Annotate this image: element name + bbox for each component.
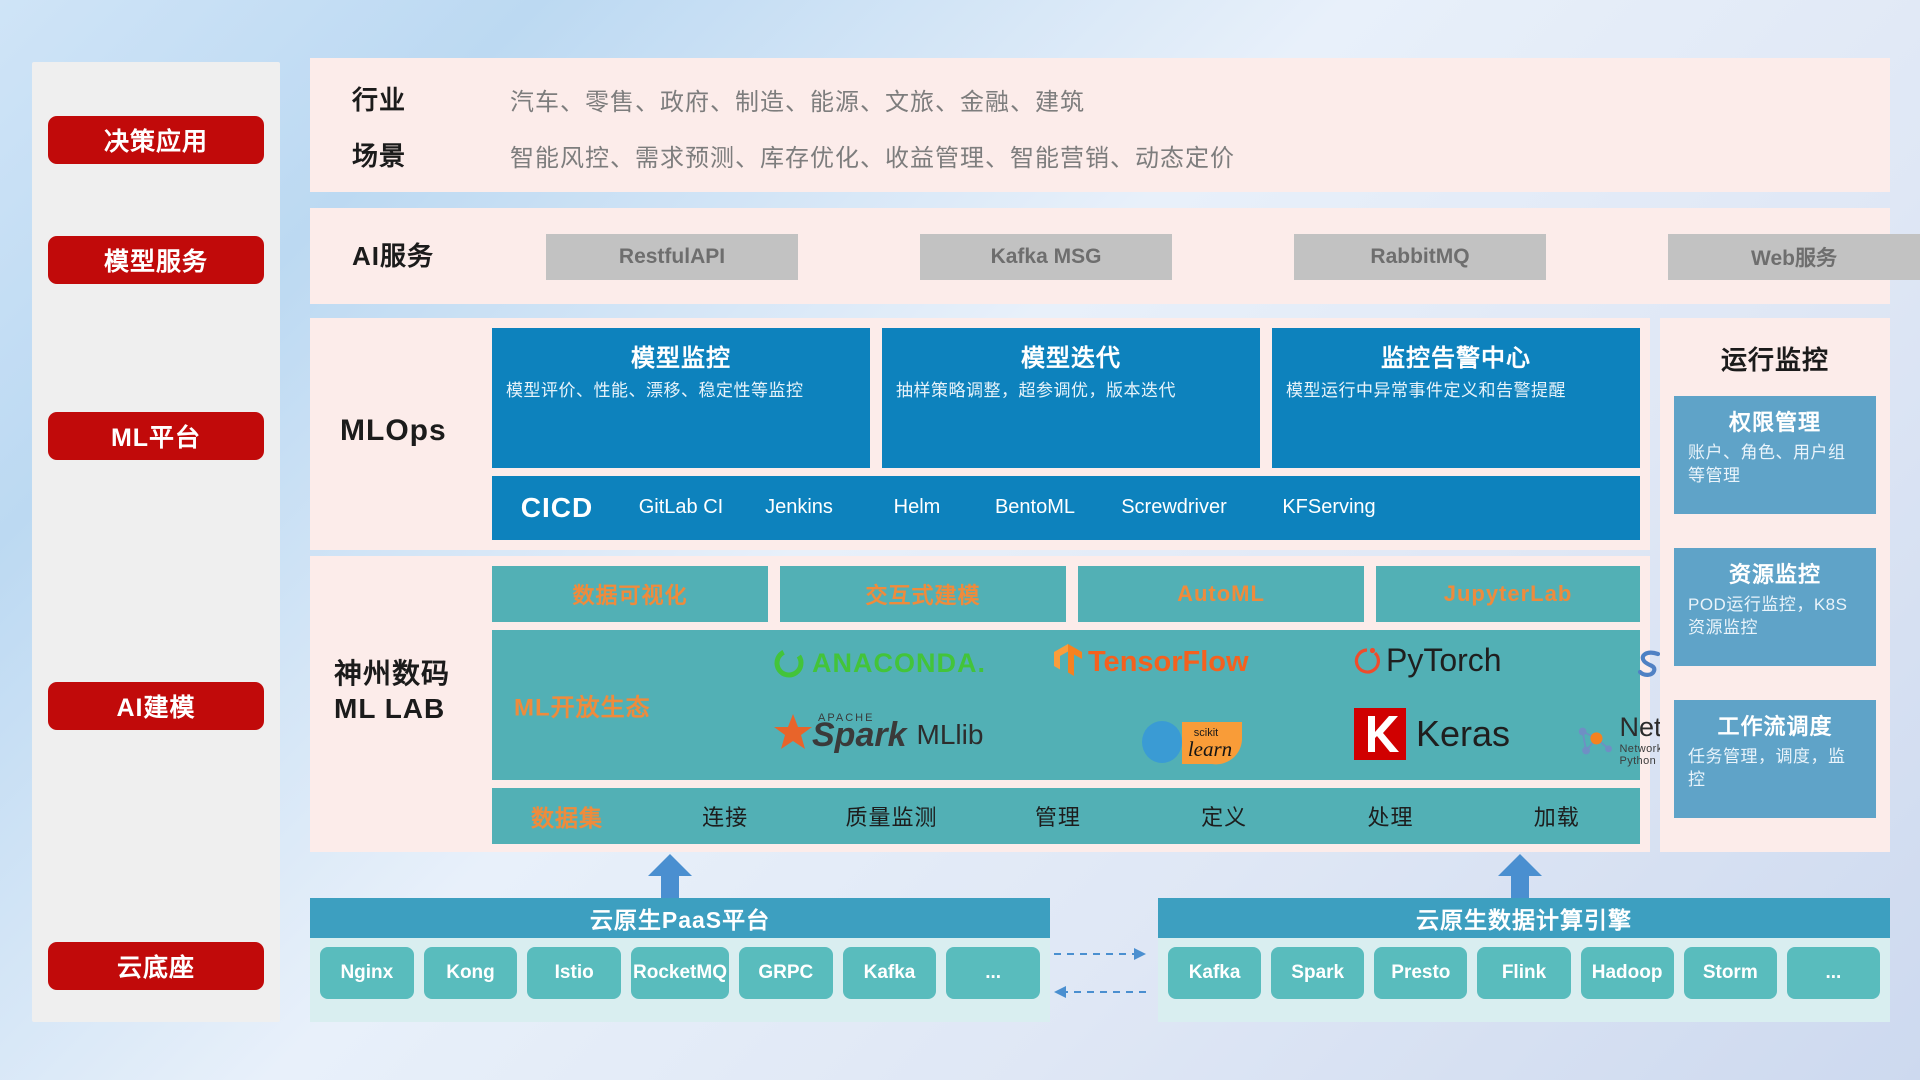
sidebar-item-label: ML平台 [111, 418, 201, 454]
ai-service-label: AI服务 [352, 236, 434, 273]
service-chip-label: Kafka MSG [991, 245, 1102, 269]
cloud-chip-istio[interactable]: Istio [527, 947, 621, 999]
cicd-title: CICD [492, 476, 622, 524]
logo-label: PyTorch [1386, 642, 1502, 679]
dataset-item-definition[interactable]: 定义 [1141, 800, 1307, 832]
monitoring-panel: 运行监控 权限管理 账户、角色、用户组等管理 资源监控 POD运行监控，K8S资… [1660, 318, 1890, 852]
sidebar-item-label: AI建模 [116, 688, 195, 724]
card-desc: 抽样策略调整，超参调优，版本迭代 [882, 380, 1260, 403]
industry-label: 行业 [352, 80, 406, 117]
tool-chip-label: 交互式建模 [865, 578, 980, 610]
cloud-chip-flink[interactable]: Flink [1477, 947, 1570, 999]
sidebar-item-label: 决策应用 [104, 122, 208, 158]
cloud-paas-box: 云原生PaaS平台 Nginx Kong Istio RocketMQ GRPC… [310, 898, 1050, 1022]
cloud-data-engine-title: 云原生数据计算引擎 [1158, 898, 1890, 938]
logo-anaconda: ANACONDA. [772, 646, 986, 680]
card-title: 模型监控 [492, 338, 870, 373]
sidebar-item-ai-modeling[interactable]: AI建模 [48, 682, 264, 730]
cloud-data-engine-items: Kafka Spark Presto Flink Hadoop Storm ..… [1158, 938, 1890, 1008]
logo-scikit-learn: scikit learn [1140, 714, 1250, 766]
cloud-data-engine-box: 云原生数据计算引擎 Kafka Spark Presto Flink Hadoo… [1158, 898, 1890, 1022]
logo-pytorch: PyTorch [1352, 642, 1502, 679]
cloud-chip-grpc[interactable]: GRPC [739, 947, 833, 999]
tool-chip-jupyterlab[interactable]: JupyterLab [1376, 566, 1640, 622]
service-chip-label: Web服务 [1751, 242, 1837, 272]
dataset-item-connect[interactable]: 连接 [642, 800, 808, 832]
architecture-diagram: 决策应用 模型服务 ML平台 AI建模 云底座 行业 汽车、零售、政府、制造、能… [0, 0, 1920, 1080]
cloud-chip-more[interactable]: ... [946, 947, 1040, 999]
sidebar-item-label: 云底座 [117, 948, 195, 984]
pytorch-icon [1352, 643, 1382, 679]
logo-spark-mllib: APACHE Spark MLlib [770, 712, 983, 758]
ml-lab-label-line1: 神州数码 [334, 656, 450, 691]
dataset-item-processing[interactable]: 处理 [1307, 800, 1473, 832]
arrow-up-paas-icon [640, 854, 700, 900]
card-title: 模型迭代 [882, 338, 1260, 373]
dataset-item-quality-monitoring[interactable]: 质量监测 [808, 800, 974, 832]
networkx-icon [1574, 718, 1615, 764]
monitoring-card-workflow[interactable]: 工作流调度 任务管理，调度，监控 [1674, 700, 1876, 818]
industry-values: 汽车、零售、政府、制造、能源、文旅、金融、建筑 [510, 82, 1085, 117]
tool-chip-data-visualization[interactable]: 数据可视化 [492, 566, 768, 622]
card-title: 权限管理 [1674, 405, 1876, 437]
cicd-item-bentoml[interactable]: BentoML [976, 476, 1094, 519]
logo-tensorflow: TensorFlow [1052, 642, 1249, 682]
cloud-chip-presto[interactable]: Presto [1374, 947, 1467, 999]
monitoring-title: 运行监控 [1660, 340, 1890, 377]
ai-service-panel: AI服务 RestfulAPI Kafka MSG RabbitMQ Web服务 [310, 208, 1890, 304]
sidebar-item-cloud-base[interactable]: 云底座 [48, 942, 264, 990]
dataset-band: 数据集 连接 质量监测 管理 定义 处理 加载 [492, 788, 1640, 844]
cloud-chip-nginx[interactable]: Nginx [320, 947, 414, 999]
card-title: 工作流调度 [1674, 709, 1876, 741]
ml-lab-label: 神州数码 ML LAB [334, 656, 450, 726]
cloud-paas-title: 云原生PaaS平台 [310, 898, 1050, 938]
spark-icon [770, 712, 816, 758]
monitoring-card-resource[interactable]: 资源监控 POD运行监控，K8S资源监控 [1674, 548, 1876, 666]
scikit-learn-icon: scikit learn [1140, 714, 1250, 766]
monitoring-card-permission[interactable]: 权限管理 账户、角色、用户组等管理 [1674, 396, 1876, 514]
arrow-up-data-engine-icon [1490, 854, 1550, 900]
ml-lab-panel: 神州数码 ML LAB 数据可视化 交互式建模 AutoML JupyterLa… [310, 556, 1650, 852]
cloud-chip-spark[interactable]: Spark [1271, 947, 1364, 999]
service-chip-web-service[interactable]: Web服务 [1668, 234, 1920, 280]
cloud-chip-more[interactable]: ... [1787, 947, 1880, 999]
cloud-chip-kafka[interactable]: Kafka [1168, 947, 1261, 999]
cloud-paas-items: Nginx Kong Istio RocketMQ GRPC Kafka ... [310, 938, 1050, 1008]
mlops-card-alert-center[interactable]: 监控告警中心 模型运行中异常事件定义和告警提醒 [1272, 328, 1640, 468]
service-chip-label: RabbitMQ [1370, 245, 1469, 269]
tool-chip-label: AutoML [1177, 581, 1265, 607]
card-desc: 任务管理，调度，监控 [1674, 746, 1876, 792]
card-desc: 账户、角色、用户组等管理 [1674, 442, 1876, 488]
cloud-chip-rocketmq[interactable]: RocketMQ [631, 947, 729, 999]
service-chip-kafka-msg[interactable]: Kafka MSG [920, 234, 1172, 280]
service-chip-rabbitmq[interactable]: RabbitMQ [1294, 234, 1546, 280]
card-desc: 模型评价、性能、漂移、稳定性等监控 [492, 380, 870, 403]
card-title: 监控告警中心 [1272, 338, 1640, 373]
sidebar-item-ml-platform[interactable]: ML平台 [48, 412, 264, 460]
keras-icon [1354, 708, 1406, 760]
scenario-values: 智能风控、需求预测、库存优化、收益管理、智能营销、动态定价 [510, 138, 1235, 173]
mlops-card-model-monitoring[interactable]: 模型监控 模型评价、性能、漂移、稳定性等监控 [492, 328, 870, 468]
mlops-label: MLOps [340, 414, 447, 448]
svg-text:learn: learn [1188, 737, 1232, 761]
cloud-chip-kong[interactable]: Kong [424, 947, 518, 999]
anaconda-icon [772, 646, 806, 680]
mlops-panel: MLOps 模型监控 模型评价、性能、漂移、稳定性等监控 模型迭代 抽样策略调整… [310, 318, 1650, 550]
card-desc: POD运行监控，K8S资源监控 [1674, 594, 1876, 640]
cicd-item-helm[interactable]: Helm [858, 476, 976, 519]
dashed-connectors [1050, 940, 1150, 1010]
cicd-item-screwdriver[interactable]: Screwdriver [1094, 476, 1254, 519]
card-title: 资源监控 [1674, 557, 1876, 589]
ml-ecosystem-label: ML开放生态 [514, 688, 651, 723]
sidebar-item-label: 模型服务 [104, 242, 208, 278]
tensorflow-icon [1052, 642, 1084, 682]
scenario-label: 场景 [352, 136, 406, 173]
mllib-label: MLlib [917, 719, 984, 751]
tool-chip-interactive-modeling[interactable]: 交互式建模 [780, 566, 1066, 622]
cicd-item-gitlab-ci[interactable]: GitLab CI [622, 476, 740, 519]
logo-label: Keras [1416, 713, 1510, 755]
cloud-chip-storm[interactable]: Storm [1684, 947, 1777, 999]
layer-rail: 决策应用 模型服务 ML平台 AI建模 云底座 [32, 62, 280, 1022]
cicd-item-jenkins[interactable]: Jenkins [740, 476, 858, 519]
logo-keras: Keras [1354, 708, 1510, 760]
sidebar-item-model-service[interactable]: 模型服务 [48, 236, 264, 284]
logo-label: TensorFlow [1088, 646, 1249, 679]
cloud-chip-kafka[interactable]: Kafka [843, 947, 937, 999]
mlops-card-model-iteration[interactable]: 模型迭代 抽样策略调整，超参调优，版本迭代 [882, 328, 1260, 468]
dataset-item-loading[interactable]: 加载 [1474, 800, 1640, 832]
cicd-item-kfserving[interactable]: KFServing [1254, 476, 1404, 519]
spark-apache-label: APACHE [818, 712, 874, 724]
cicd-bar: CICD GitLab CI Jenkins Helm BentoML Scre… [492, 476, 1640, 540]
cloud-chip-hadoop[interactable]: Hadoop [1581, 947, 1674, 999]
card-desc: 模型运行中异常事件定义和告警提醒 [1272, 380, 1640, 403]
application-layer-panel: 行业 汽车、零售、政府、制造、能源、文旅、金融、建筑 场景 智能风控、需求预测、… [310, 58, 1890, 192]
service-chip-restfulapi[interactable]: RestfulAPI [546, 234, 798, 280]
ml-lab-label-line2: ML LAB [334, 691, 450, 726]
dataset-item-management[interactable]: 管理 [975, 800, 1141, 832]
dataset-title: 数据集 [492, 799, 642, 833]
tool-chip-automl[interactable]: AutoML [1078, 566, 1364, 622]
tool-chip-label: 数据可视化 [572, 578, 687, 610]
logo-label: ANACONDA. [812, 648, 986, 679]
tool-chip-label: JupyterLab [1444, 581, 1573, 607]
ml-ecosystem-band: ML开放生态 ANACONDA. TensorFlow [492, 630, 1640, 780]
sidebar-item-decision-app[interactable]: 决策应用 [48, 116, 264, 164]
service-chip-label: RestfulAPI [619, 245, 725, 269]
